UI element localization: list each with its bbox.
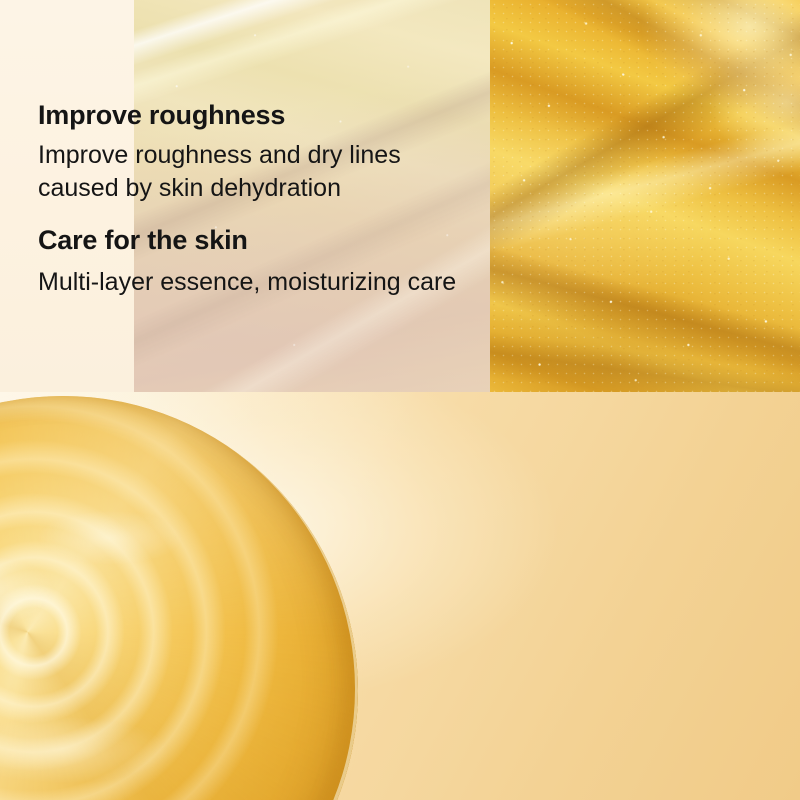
- feature-heading: Care for the skin: [38, 225, 478, 256]
- gold-glitter-texture: [490, 0, 800, 392]
- gold-cream-jar: [0, 396, 358, 800]
- jar-bright-rim: [0, 396, 358, 800]
- feature-body: Multi-layer essence, moisturizing care: [38, 266, 478, 299]
- top-text-group: Improve roughness Improve roughness and …: [38, 100, 478, 299]
- bottom-panel: Moisturizing Moisturizes the bottom of t…: [0, 392, 800, 800]
- feature-block-improve-roughness: Improve roughness Improve roughness and …: [38, 100, 478, 205]
- feature-body: Improve roughness and dry lines caused b…: [38, 139, 478, 205]
- top-panel: Improve roughness Improve roughness and …: [0, 0, 800, 392]
- product-feature-poster: Improve roughness Improve roughness and …: [0, 0, 800, 800]
- feature-heading: Improve roughness: [38, 100, 478, 131]
- jar-clip: [0, 396, 358, 800]
- gold-glitter-shadow-layer: [490, 0, 800, 392]
- feature-block-care-for-the-skin: Care for the skin Multi-layer essence, m…: [38, 225, 478, 299]
